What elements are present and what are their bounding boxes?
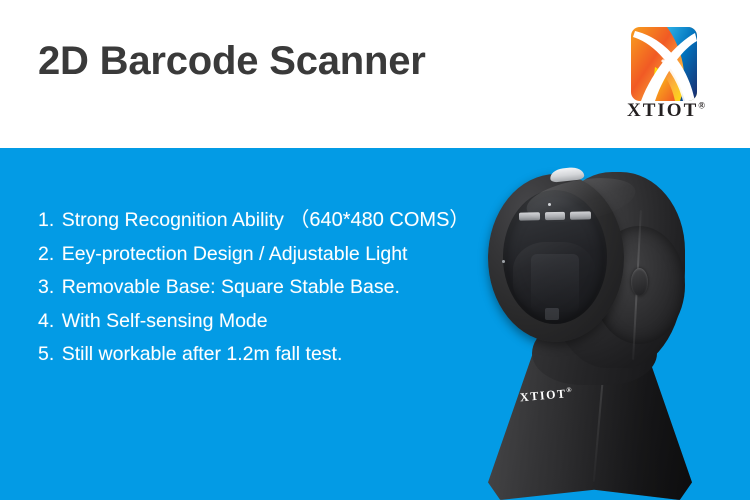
page-title: 2D Barcode Scanner — [38, 41, 426, 81]
scan-window-interior — [531, 254, 579, 312]
list-item-text: Strong Recognition Ability — [62, 209, 284, 231]
list-item-text: With Self-sensing Mode — [62, 310, 268, 332]
product-image: XTIOT® — [440, 150, 750, 500]
banner-header: 2D Barcode Scanner — [0, 0, 750, 148]
list-item-number: 2. — [38, 243, 54, 265]
xtiot-logo-icon — [631, 27, 697, 101]
list-item-number: 4. — [38, 310, 54, 332]
list-item-number: 5. — [38, 343, 54, 365]
list-item-text: Eey-protection Design / Adjustable Light — [62, 243, 408, 265]
brand-name: XTIOT — [627, 100, 698, 121]
brand-logo: XTIOT® — [617, 27, 722, 127]
scan-window-interior-foot — [545, 308, 559, 320]
list-item-text: Still workable after 1.2m fall test. — [62, 343, 343, 365]
scanner-sensor-dot — [502, 260, 505, 263]
scanner-base-mark: ® — [566, 386, 574, 395]
list-item-number: 1. — [38, 209, 54, 231]
brand-wordmark: XTIOT® — [627, 100, 727, 122]
list-item-text: Removable Base: Square Stable Base. — [62, 276, 400, 298]
scanner-base-brand: XTIOT — [519, 386, 567, 404]
list-item-number: 3. — [38, 276, 54, 298]
scanner-power-button — [631, 268, 648, 296]
product-banner: 2D Barcode Scanner — [0, 0, 750, 500]
registered-mark: ® — [698, 101, 705, 111]
